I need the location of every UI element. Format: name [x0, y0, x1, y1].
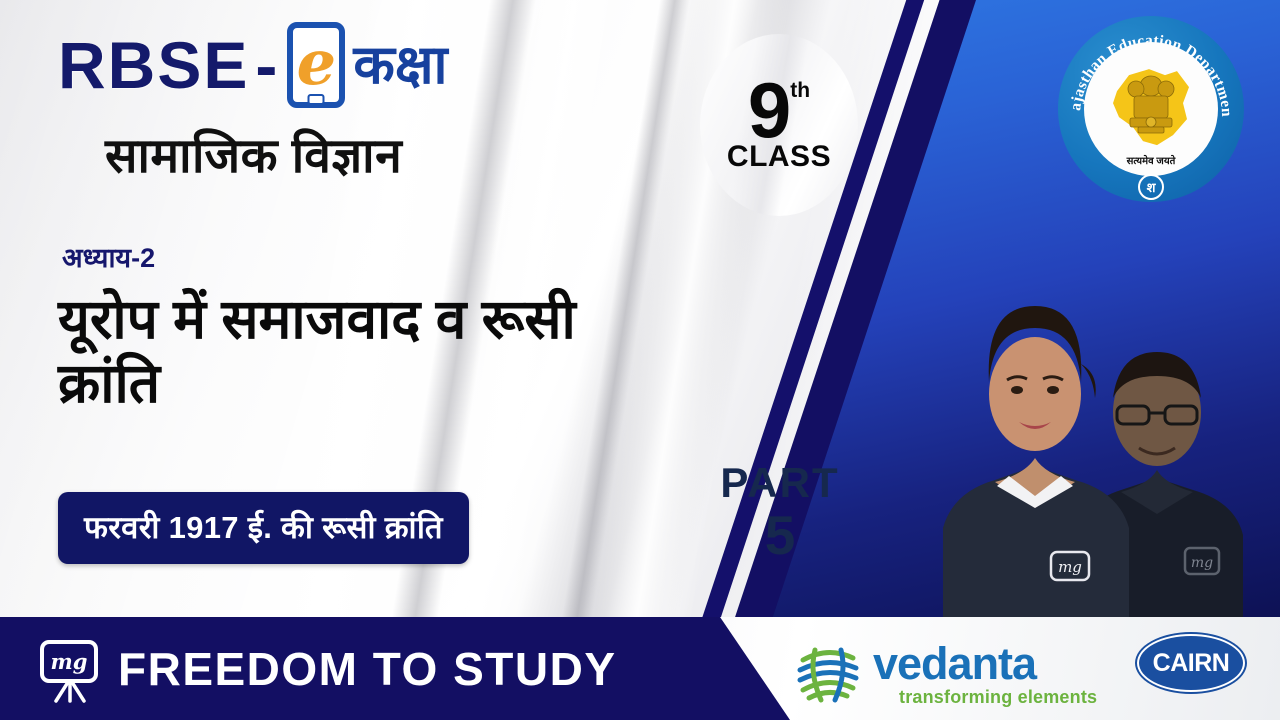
subject-name: सामाजिक विज्ञान	[105, 122, 402, 187]
vedanta-name: vedanta	[873, 641, 1097, 686]
footer-tagline: FREEDOM TO STUDY	[118, 646, 617, 692]
part-indicator: PART 5	[700, 462, 860, 563]
mg-logo-text: mg	[51, 651, 88, 672]
brand-heading: RBSE - e कक्षा	[58, 22, 448, 108]
brand-dash: -	[255, 32, 279, 98]
mg-easel-legs-icon	[46, 679, 94, 703]
topic-badge-label: फरवरी 1917 ई. की रूसी क्रांति	[84, 506, 443, 548]
portal-name-hindi: कक्षा	[353, 38, 447, 92]
cairn-logo: CAIRN	[1137, 634, 1245, 692]
vedanta-globe-icon	[795, 640, 861, 706]
vedanta-logo: vedanta transforming elements	[795, 640, 1097, 706]
svg-text:mg: mg	[1191, 555, 1213, 571]
class-word: CLASS	[727, 140, 831, 174]
phone-icon: e	[287, 22, 345, 108]
freedom-to-study-bar: mg FREEDOM TO STUDY	[0, 617, 790, 720]
thumbnail-canvas: RBSE - e कक्षा सामाजिक विज्ञान अध्याय-2 …	[0, 0, 1280, 720]
seal-foot-emblem: श	[1138, 174, 1164, 200]
topic-badge: फरवरी 1917 ई. की रूसी क्रांति	[58, 492, 469, 564]
cairn-name: CAIRN	[1153, 649, 1230, 678]
class-number-row: 9 th	[748, 76, 810, 145]
class-number: 9	[748, 76, 789, 145]
instructor-photos: mg mg	[905, 245, 1280, 620]
vedanta-wordmark: vedanta transforming elements	[873, 641, 1097, 706]
e-letter: e	[297, 32, 336, 94]
rajasthan-education-department-seal: Rajasthan Education Department सत्यमेव ज…	[1058, 16, 1244, 202]
instructor-female-photo: mg	[935, 290, 1165, 620]
part-number: 5	[700, 508, 860, 563]
class-badge: 9 th CLASS	[700, 34, 858, 216]
ashoka-emblem-icon	[1120, 70, 1182, 142]
footer-strip: mg FREEDOM TO STUDY	[0, 617, 1280, 720]
chapter-title: यूरोप में समाजवाद व रूसी क्रांति	[58, 288, 678, 416]
mg-board-frame: mg	[40, 640, 98, 683]
chapter-label: अध्याय-2	[62, 238, 155, 275]
mg-board-icon: mg	[36, 638, 102, 700]
seal-motto: सत्यमेव जयते	[1127, 153, 1176, 167]
seal-inner-disc: सत्यमेव जयते	[1084, 42, 1218, 176]
class-ordinal: th	[790, 80, 810, 101]
board-name: RBSE	[58, 32, 249, 98]
part-word: PART	[700, 462, 860, 504]
vedanta-tagline: transforming elements	[899, 688, 1097, 706]
svg-text:mg: mg	[1058, 558, 1082, 576]
